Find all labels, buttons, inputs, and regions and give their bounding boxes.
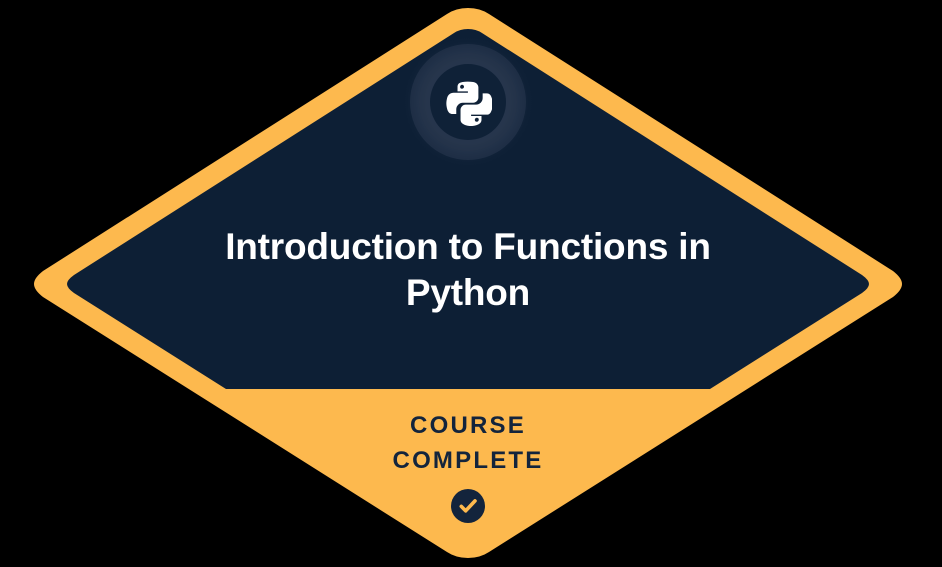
- course-completion-badge: Introduction to Functions in Python COUR…: [0, 0, 942, 567]
- course-title-line-2: Python: [161, 270, 775, 316]
- status-line-complete: COMPLETE: [271, 443, 665, 478]
- page-title: Introduction to Functions in Python: [161, 224, 775, 316]
- status-line-course: COURSE: [271, 408, 665, 443]
- course-title-line-1: Introduction to Functions in: [161, 224, 775, 270]
- check-badge-wrapper: [271, 489, 665, 523]
- check-circle-icon: [451, 489, 485, 523]
- status-badge: COURSE COMPLETE: [271, 408, 665, 523]
- python-logo-icon: [444, 78, 492, 126]
